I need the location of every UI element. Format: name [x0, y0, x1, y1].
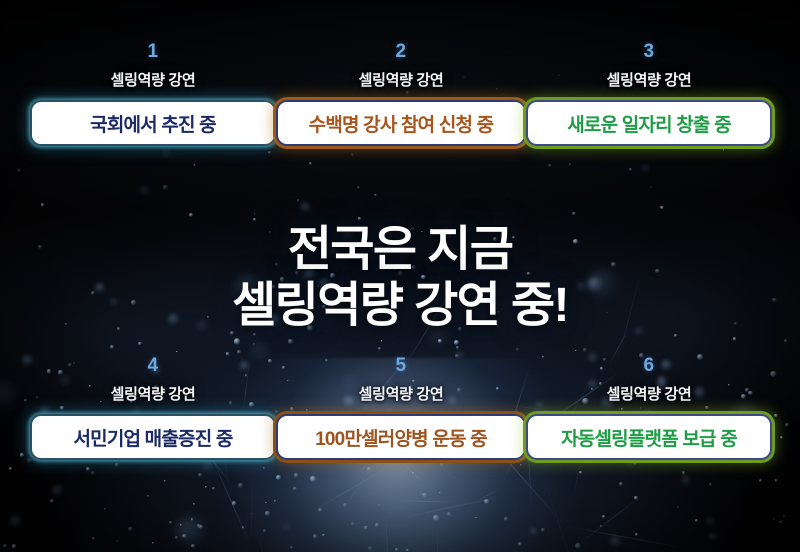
card-4: 4 셀링역량 강연 서민기업 매출증진 중 — [28, 356, 278, 460]
card-5-index: 5 — [276, 356, 526, 375]
card-2-index: 2 — [276, 42, 526, 61]
card-5: 5 셀링역량 강연 100만셀러양병 운동 중 — [276, 356, 526, 460]
poster-canvas: 1 셀링역량 강연 국회에서 추진 중 2 셀링역량 강연 수백명 강사 참여 … — [0, 0, 800, 552]
card-3-caption: 셀링역량 강연 — [524, 73, 774, 88]
page-title: 전국은 지금 셀링역량 강연 중! — [0, 222, 800, 333]
card-5-caption: 셀링역량 강연 — [276, 387, 526, 402]
card-2-status-pill[interactable]: 수백명 강사 참여 신청 중 — [276, 100, 526, 146]
card-1-index: 1 — [28, 42, 278, 61]
card-1: 1 셀링역량 강연 국회에서 추진 중 — [28, 42, 278, 146]
card-1-status-pill[interactable]: 국회에서 추진 중 — [30, 100, 276, 146]
card-4-status-pill[interactable]: 서민기업 매출증진 중 — [30, 414, 276, 460]
headline-line-2: 셀링역량 강연 중! — [0, 278, 800, 334]
card-5-status-pill[interactable]: 100만셀러양병 운동 중 — [276, 414, 526, 460]
card-2: 2 셀링역량 강연 수백명 강사 참여 신청 중 — [276, 42, 526, 146]
headline-line-1: 전국은 지금 — [0, 222, 800, 278]
card-2-caption: 셀링역량 강연 — [276, 73, 526, 88]
poster-content: 1 셀링역량 강연 국회에서 추진 중 2 셀링역량 강연 수백명 강사 참여 … — [0, 0, 800, 552]
card-1-caption: 셀링역량 강연 — [28, 73, 278, 88]
card-3-index: 3 — [524, 42, 774, 61]
card-6-caption: 셀링역량 강연 — [524, 387, 774, 402]
card-3: 3 셀링역량 강연 새로운 일자리 창출 중 — [524, 42, 774, 146]
card-4-caption: 셀링역량 강연 — [28, 387, 278, 402]
card-6-status-pill[interactable]: 자동셀링플랫폼 보급 중 — [526, 414, 772, 460]
card-6: 6 셀링역량 강연 자동셀링플랫폼 보급 중 — [524, 356, 774, 460]
card-3-status-pill[interactable]: 새로운 일자리 창출 중 — [526, 100, 772, 146]
card-6-index: 6 — [524, 356, 774, 375]
card-4-index: 4 — [28, 356, 278, 375]
